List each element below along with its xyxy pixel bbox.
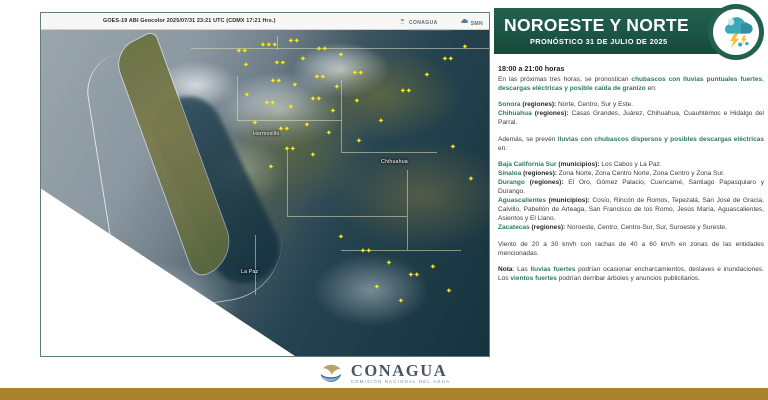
note-label: Nota [498, 266, 513, 273]
region-state-name: Aguascalientes [498, 197, 546, 204]
region-entry: Sonora (regiones): Norte, Centro, Sur y … [498, 100, 764, 109]
region-list: Norte, Centro, Sur y Este. [556, 101, 633, 108]
region-entry: Zacatecas (regiones): Noroeste, Centro, … [498, 223, 764, 232]
forecast-secondary-intro: Además, se prevén lluvias con chubascos … [498, 135, 764, 153]
satellite-logo-group: CONAGUA COMISIÓN NACIONAL DEL AGUA SMN [398, 12, 489, 32]
region-state-name: Baja California Sur [498, 161, 557, 168]
note-pre: : Las [513, 266, 531, 273]
region-kind-label: (municipios): [549, 197, 590, 204]
note-post: podrían derribar árboles y anuncios publ… [557, 275, 700, 282]
secondary-highlight: lluvias con chubascos dispersos y posibl… [558, 136, 764, 143]
conagua-logo-label: CONAGUA [409, 20, 438, 26]
secondary-pre: Además, se prevén [498, 136, 558, 143]
conagua-wave-icon [318, 361, 344, 385]
note-highlight-1: lluvias fuertes [530, 266, 575, 273]
region-state-name: Zacatecas [498, 224, 530, 231]
note-paragraph: Nota: Las lluvias fuertes podrían ocasio… [498, 265, 764, 283]
region-entry: Durango (regiones): El Oro, Gómez Palaci… [498, 178, 764, 196]
region-list: Noroeste, Centro, Centro-Sur, Sur, Suroe… [565, 224, 727, 231]
thunderstorm-hail-badge [708, 4, 764, 60]
intro-pre: En las próximas tres horas, se pronostic… [498, 76, 631, 83]
smn-logo-label: SMN [471, 21, 483, 27]
region-kind-label: (municipios): [558, 161, 599, 168]
forecast-time-heading: 18:00 a 21:00 horas [498, 64, 764, 73]
city-label-la-paz: La Paz [241, 269, 258, 275]
conagua-wave-icon [398, 17, 407, 26]
region-kind-label: (regiones): [530, 179, 564, 186]
footer-gold-bar [0, 388, 768, 400]
smn-logo: SMN [460, 12, 483, 30]
region-list: Zona Norte, Zona Centro Norte, Zona Cent… [557, 170, 725, 177]
intro-highlight-1: chubascos con lluvias puntuales fuertes [631, 76, 762, 83]
satellite-header-bar: GOES-19 ABI Geocolor 2025/07/31 23:21 UT… [41, 13, 489, 30]
intro-post: en: [646, 85, 657, 92]
wind-paragraph: Viento de 20 a 30 km/h con rachas de 40 … [498, 240, 764, 258]
intro-highlight-2: descargas eléctricas y posible caída de … [498, 85, 646, 92]
region-state-name: Durango [498, 179, 525, 186]
region-entry: Aguascalientes (municipios): Cosío, Rinc… [498, 196, 764, 223]
footer-conagua-logo: CONAGUA COMISIÓN NACIONAL DEL AGUA [0, 358, 768, 388]
region-entry: Chihuahua (regiones): Casas Grandes, Juá… [498, 109, 764, 127]
region-entry: Sinaloa (regiones): Zona Norte, Zona Cen… [498, 169, 764, 178]
region-state-name: Chihuahua [498, 110, 532, 117]
satellite-timestamp-title: GOES-19 ABI Geocolor 2025/07/31 23:21 UT… [103, 18, 276, 24]
region-entry: Baja California Sur (municipios): Los Ca… [498, 160, 764, 169]
region-state-name: Sinaloa [498, 170, 521, 177]
forecast-body-text: 18:00 a 21:00 horas En las próximas tres… [498, 64, 764, 283]
forecast-panel: NOROESTE Y NORTE PRONÓSTICO 31 DE JULIO … [494, 0, 768, 363]
conagua-logo: CONAGUA COMISIÓN NACIONAL DEL AGUA [398, 12, 451, 32]
city-label-hermosillo: Hermosillo [253, 131, 280, 137]
region-kind-label: (regiones): [522, 101, 556, 108]
forecast-intro-paragraph: En las próximas tres horas, se pronostic… [498, 75, 764, 93]
region-list: Los Cabos y La Paz. [600, 161, 662, 168]
city-label-chihuahua: Chihuahua [381, 159, 408, 165]
satellite-image-panel: GOES-19 ABI Geocolor 2025/07/31 23:21 UT… [40, 12, 490, 357]
region-kind-label: (regiones): [535, 110, 569, 117]
footer-logo-subtitle: COMISIÓN NACIONAL DEL AGUA [351, 379, 450, 384]
thunderstorm-hail-icon [716, 12, 756, 52]
satellite-imagery: ✦✦ ✦✦✦ ✦✦ ✦ ✦✦ ✦ ✦✦ ✦ ✦✦ ✦ ✦✦ ✦ ✦✦ ✦ ✦✦ … [41, 30, 490, 357]
footer-logo-title: CONAGUA [351, 362, 450, 379]
conagua-logo-sublabel: COMISIÓN NACIONAL DEL AGUA [409, 29, 451, 32]
secondary-post: en: [498, 145, 507, 152]
forecast-header-band: NOROESTE Y NORTE PRONÓSTICO 31 DE JULIO … [494, 8, 744, 54]
intro-mid: , [762, 76, 764, 83]
note-highlight-2: vientos fuertes [510, 275, 557, 282]
region-kind-label: (regiones): [532, 224, 566, 231]
region-kind-label: (regiones): [523, 170, 557, 177]
smn-cloud-icon [460, 17, 469, 26]
region-state-name: Sonora [498, 101, 521, 108]
